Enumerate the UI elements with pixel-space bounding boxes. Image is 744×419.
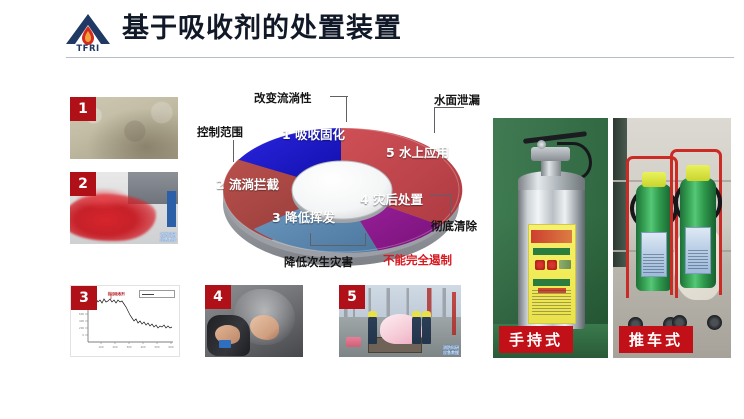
leader-line-top-v — [346, 96, 347, 122]
photo-number-badge: 2 — [70, 172, 96, 196]
eq1-label-icon-fire-2 — [547, 260, 557, 270]
photo2-blue-panel — [167, 191, 176, 227]
photo-absorbent-surface: 1 — [70, 97, 178, 159]
leader-line-bottom-v — [310, 233, 311, 245]
donut-label-1: 1 吸收固化 — [282, 124, 345, 143]
photo-red-liquid-spill: 2 消防科研应急救援 — [70, 172, 178, 244]
leader-line-clean-v — [450, 195, 451, 215]
eq1-pressure-gauge — [537, 140, 546, 149]
cartA-yellow-cap — [642, 172, 666, 188]
eq1-label-heading — [531, 230, 572, 244]
leader-line-left-v — [233, 140, 234, 162]
svg-text:300: 300 — [127, 345, 132, 349]
photo-post-treatment: 4 — [205, 285, 303, 357]
donut-label-2: 2 流淌拦截 — [216, 174, 279, 193]
svg-text:600: 600 — [79, 312, 84, 316]
svg-text:200: 200 — [79, 326, 84, 330]
handheld-caption: 手持式 — [499, 326, 573, 353]
photo-number-badge: 4 — [205, 285, 231, 309]
handheld-extinguisher-photo: 手持式 — [493, 118, 608, 358]
photo5-firefighter — [412, 316, 421, 344]
photo4-hand-right — [250, 315, 279, 339]
photo-number-badge: 3 — [71, 286, 97, 310]
cart-extinguisher-photo: 推车式 — [613, 118, 731, 358]
photo-number-badge: 5 — [339, 285, 365, 309]
cartB-wheel-right — [707, 315, 722, 330]
eq1-label-icon-fire-1 — [535, 260, 545, 270]
photo5-red-pole — [452, 292, 456, 335]
callout-change-flow: 改变流淌性 — [254, 90, 312, 106]
callout-water-leak: 水面泄漏 — [434, 92, 480, 108]
callout-reduce-secondary-disaster: 降低次生灾害 — [284, 254, 353, 270]
eq1-label-icon-use — [559, 260, 571, 269]
eq1-label-bar-1 — [533, 248, 570, 255]
cart-unit-right — [674, 149, 722, 327]
leader-line-bottom-v2 — [365, 233, 366, 245]
leader-line-right-h — [434, 107, 464, 108]
callout-control-range: 控制范围 — [197, 124, 243, 140]
donut-label-4: 4 灾后处置 — [360, 189, 423, 208]
logo-wordmark: TFRI — [76, 44, 99, 52]
photo5-watermark: 消防科研应急救援 — [443, 345, 459, 355]
svg-text:0: 0 — [82, 333, 84, 337]
cartB-yellow-cap — [686, 165, 710, 181]
eq1-label-text-lines — [532, 290, 571, 318]
donut-label-5: 5 水上应用 — [386, 142, 449, 161]
title-divider — [66, 57, 734, 58]
slide-header: TFRI 基于吸收剂的处置装置 — [0, 0, 744, 60]
svg-text:100: 100 — [99, 345, 104, 349]
photo4-badge — [219, 340, 231, 348]
leader-line-bottom-h — [310, 245, 366, 246]
eq1-label-bar-2 — [533, 279, 570, 286]
eq1-instruction-label — [528, 224, 576, 325]
cartA-label — [641, 232, 667, 277]
photo-field-deployment: 5 消防科研应急救援 — [339, 285, 461, 357]
svg-text:600: 600 — [169, 345, 174, 349]
photo5-firefighter — [368, 316, 377, 344]
callout-not-fully-contained: 不能完全遏制 — [383, 252, 452, 268]
photo2-watermark: 消防科研应急救援 — [160, 232, 176, 242]
mini-chart-annotation: 投加吸收剂 — [108, 291, 125, 296]
photo5-firefighter — [422, 316, 431, 344]
page-title: 基于吸收剂的处置装置 — [122, 12, 402, 46]
photo-number-badge: 1 — [70, 97, 96, 121]
photo5-drum — [346, 337, 361, 347]
donut-label-3: 3 降低挥发 — [272, 207, 335, 226]
leader-line-clean-h — [430, 195, 452, 196]
svg-text:400: 400 — [79, 319, 84, 323]
leader-line-right-v — [434, 107, 435, 133]
svg-text:400: 400 — [141, 345, 146, 349]
photo-volatility-chart: 1000800 600400 2000 100200 300400 500600 — [70, 285, 180, 357]
cartB-label — [685, 227, 711, 273]
cart-caption: 推车式 — [619, 326, 693, 353]
callout-thorough-removal: 彻底清除 — [431, 218, 477, 234]
slide-root: TFRI 基于吸收剂的处置装置 1 2 消防科研应急救援 — [0, 0, 744, 419]
eq1-valve — [531, 147, 570, 161]
svg-text:500: 500 — [155, 345, 160, 349]
tfri-logo-icon: TFRI — [62, 12, 114, 52]
mini-chart-legend — [139, 290, 175, 298]
svg-text:200: 200 — [113, 345, 118, 349]
